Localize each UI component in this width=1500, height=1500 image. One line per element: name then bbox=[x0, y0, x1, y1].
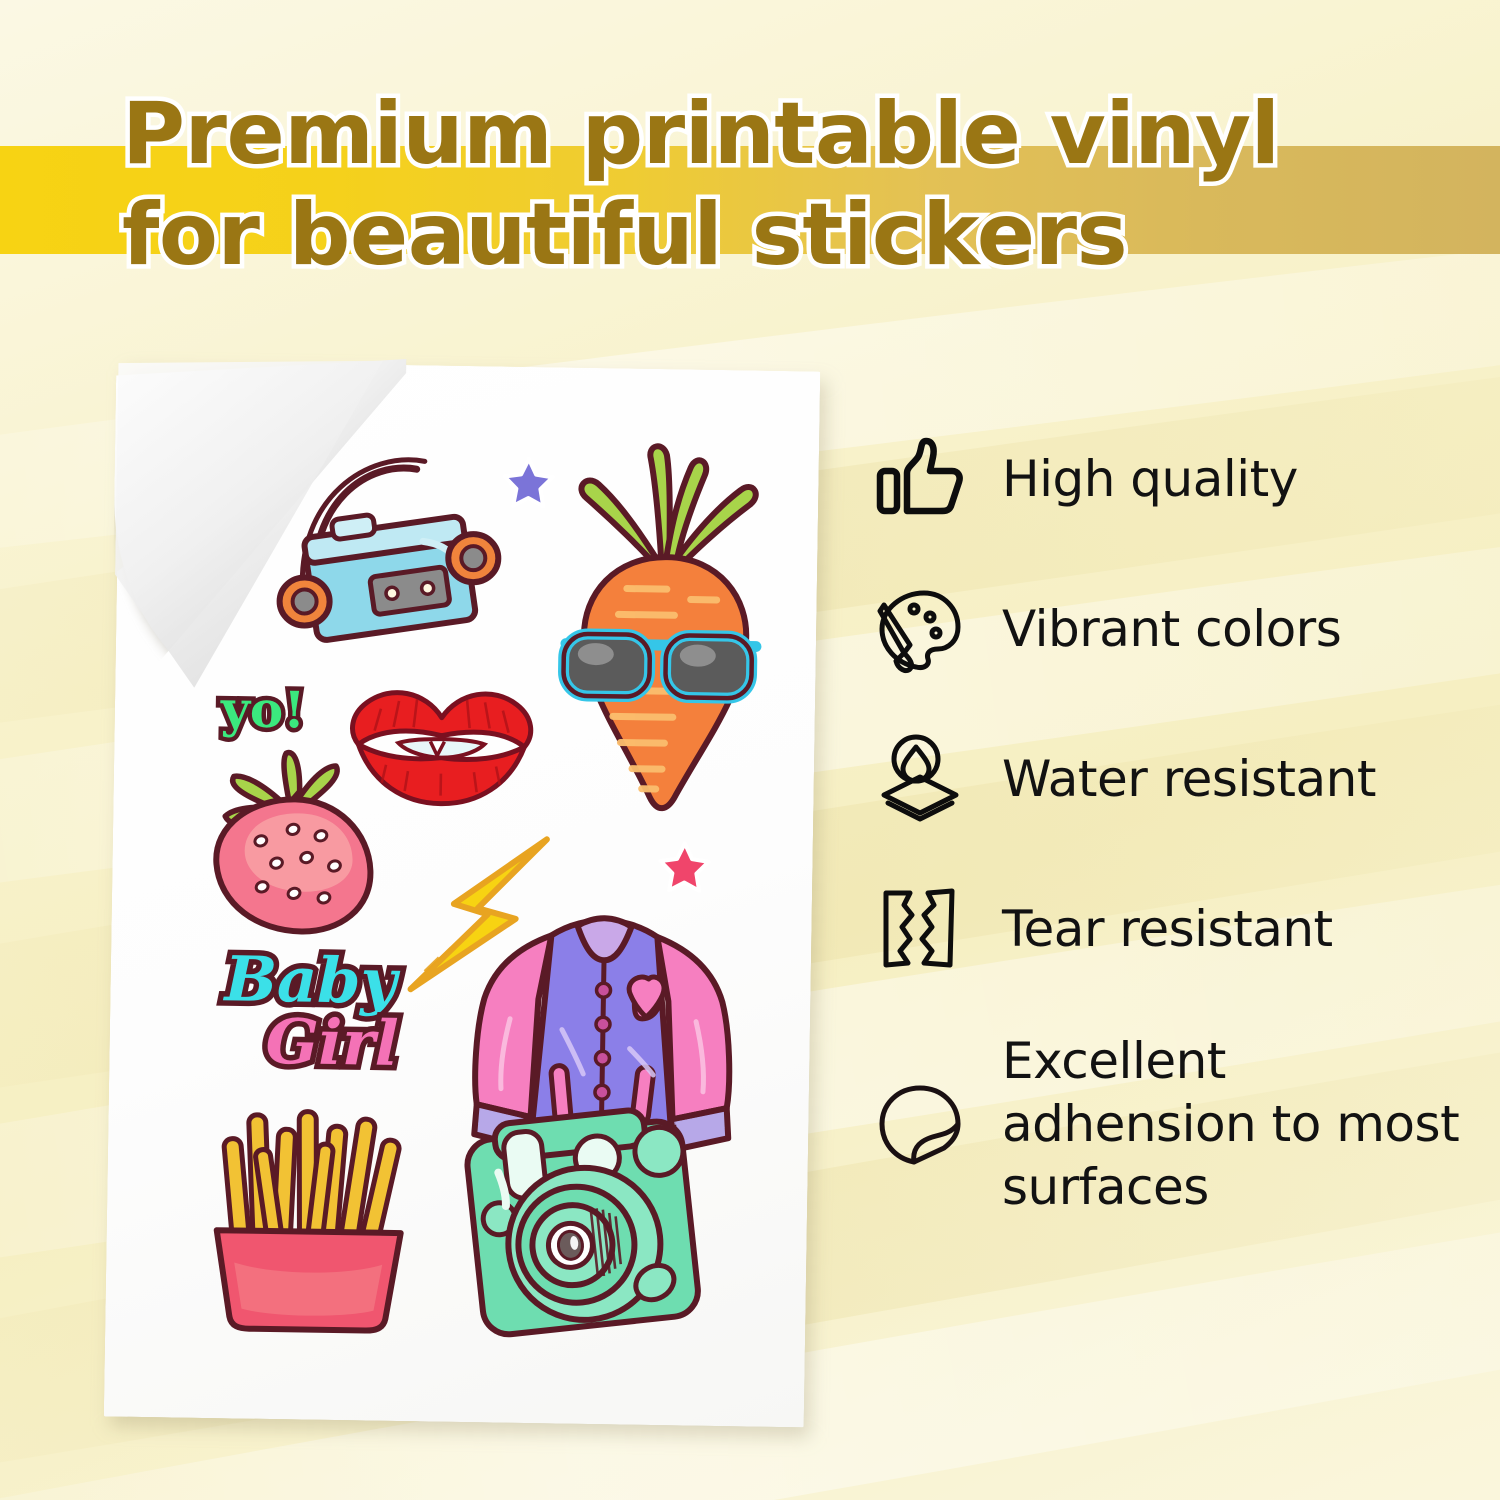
strawberry-sticker bbox=[201, 746, 384, 939]
feature-item-adhesion: Excellent adhension to most surfaces bbox=[872, 1004, 1472, 1244]
feature-item-tear-resistant: Tear resistant bbox=[872, 854, 1472, 1004]
paint-palette-icon bbox=[872, 581, 968, 677]
feature-item-high-quality: High quality bbox=[872, 404, 1472, 554]
instant-camera-sticker bbox=[451, 1102, 715, 1356]
yo-label: yo! bbox=[219, 679, 305, 739]
sticker-sheet: yo! bbox=[104, 361, 821, 1432]
peeling-sticker-icon bbox=[872, 1076, 968, 1172]
headline-line-2: for beautiful stickers bbox=[122, 185, 1362, 286]
french-fries-sticker bbox=[203, 1102, 427, 1335]
feature-list: High quality Vibrant colors bbox=[872, 404, 1472, 1244]
thumbs-up-icon bbox=[872, 431, 968, 527]
yo-text-sticker: yo! bbox=[212, 676, 323, 744]
baby-girl-text-sticker: Baby Girl bbox=[205, 934, 437, 1088]
purple-star-sticker bbox=[500, 455, 557, 512]
feature-label-high-quality: High quality bbox=[1002, 448, 1298, 511]
product-marketing-image: Premium printable vinyl for beautiful st… bbox=[0, 0, 1500, 1500]
carrot-sunglasses-sticker bbox=[545, 437, 781, 851]
feature-label-water-resistant: Water resistant bbox=[1002, 748, 1376, 811]
girl-label: Girl bbox=[265, 1005, 399, 1080]
feature-label-tear-resistant: Tear resistant bbox=[1002, 898, 1333, 961]
headline-line-1: Premium printable vinyl bbox=[122, 84, 1362, 185]
feature-label-vibrant-colors: Vibrant colors bbox=[1002, 598, 1341, 661]
pink-star-sticker bbox=[656, 839, 713, 896]
feature-item-vibrant-colors: Vibrant colors bbox=[872, 554, 1472, 704]
water-drop-layers-icon bbox=[872, 731, 968, 827]
feature-item-water-resistant: Water resistant bbox=[872, 704, 1472, 854]
page-title: Premium printable vinyl for beautiful st… bbox=[122, 84, 1362, 285]
torn-paper-icon bbox=[872, 881, 968, 977]
feature-label-adhesion: Excellent adhension to most surfaces bbox=[1002, 1030, 1472, 1219]
